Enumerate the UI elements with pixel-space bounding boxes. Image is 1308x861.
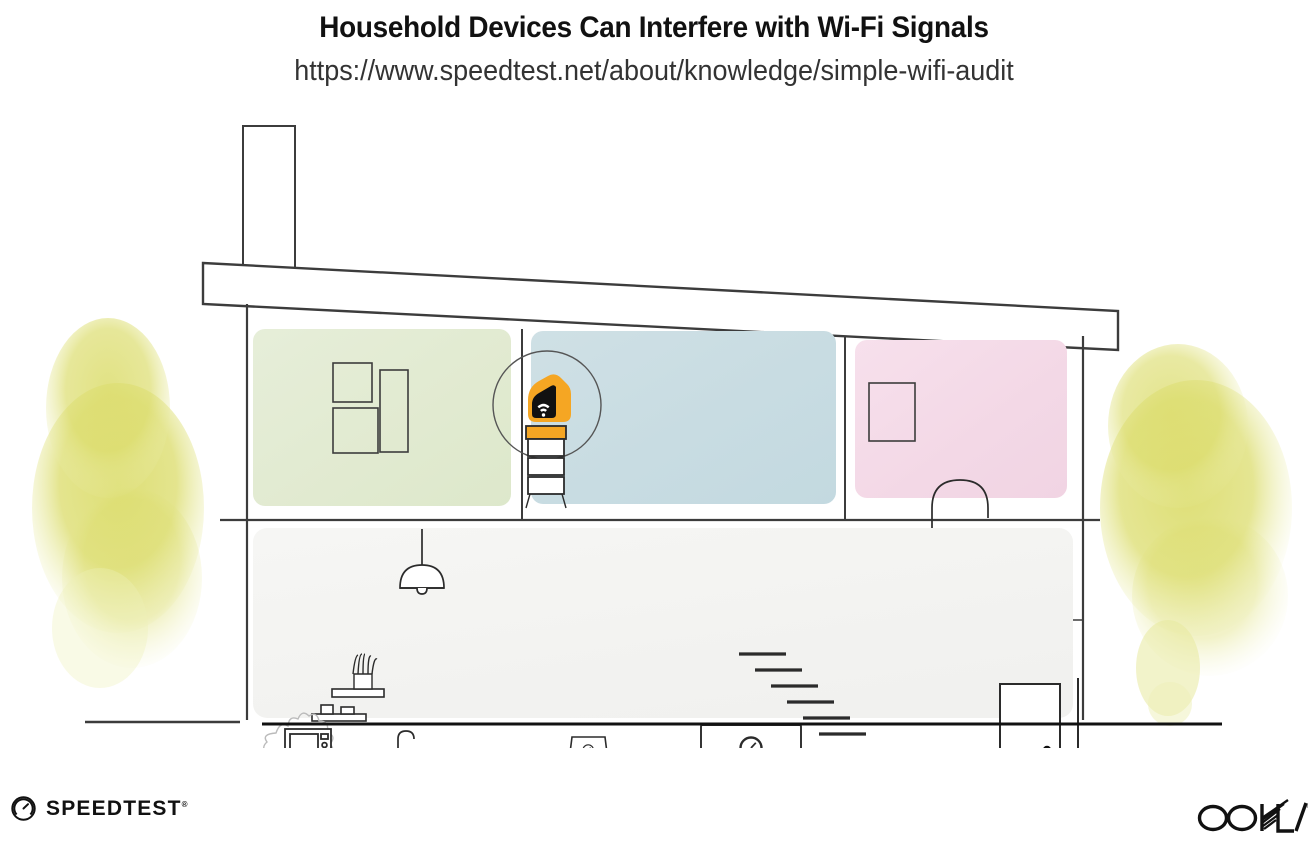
speedtest-logo[interactable]: SPEEDTEST® (10, 795, 188, 822)
room-bedroom-green (253, 329, 511, 506)
footer: SPEEDTEST® (0, 780, 1308, 861)
page-url: https://www.speedtest.net/about/knowledg… (46, 46, 1262, 88)
ookla-la (1278, 803, 1306, 831)
front-door[interactable] (1000, 684, 1060, 748)
speedtest-trademark: ® (182, 800, 188, 809)
bush-left-icon (32, 318, 204, 688)
chimney (243, 126, 295, 276)
header: Household Devices Can Interfere with Wi-… (0, 0, 1308, 88)
kitchen-shelf-upper (332, 689, 384, 697)
room-bedroom-blue (531, 331, 836, 504)
speedtest-wordmark-text: SPEEDTEST (46, 797, 182, 820)
tv-lower[interactable]: SPEEDTEST (701, 725, 801, 748)
ookla-logo[interactable]: ® (1196, 798, 1308, 843)
laptop[interactable] (560, 737, 616, 748)
kitchen-faucet (398, 731, 414, 748)
house-illustration: SPEEDTEST (0, 108, 1308, 748)
microwave (285, 729, 331, 748)
room-nursery-pink (855, 340, 1067, 498)
page-root: Household Devices Can Interfere with Wi-… (0, 0, 1308, 861)
speedtest-gauge-icon-footer (10, 795, 37, 822)
ookla-k-rays (1262, 800, 1288, 829)
tree-right-icon (1100, 344, 1292, 726)
ookla-wordmark (1200, 804, 1263, 831)
page-title: Household Devices Can Interfere with Wi-… (46, 0, 1262, 46)
speedtest-wordmark: SPEEDTEST® (46, 797, 188, 821)
